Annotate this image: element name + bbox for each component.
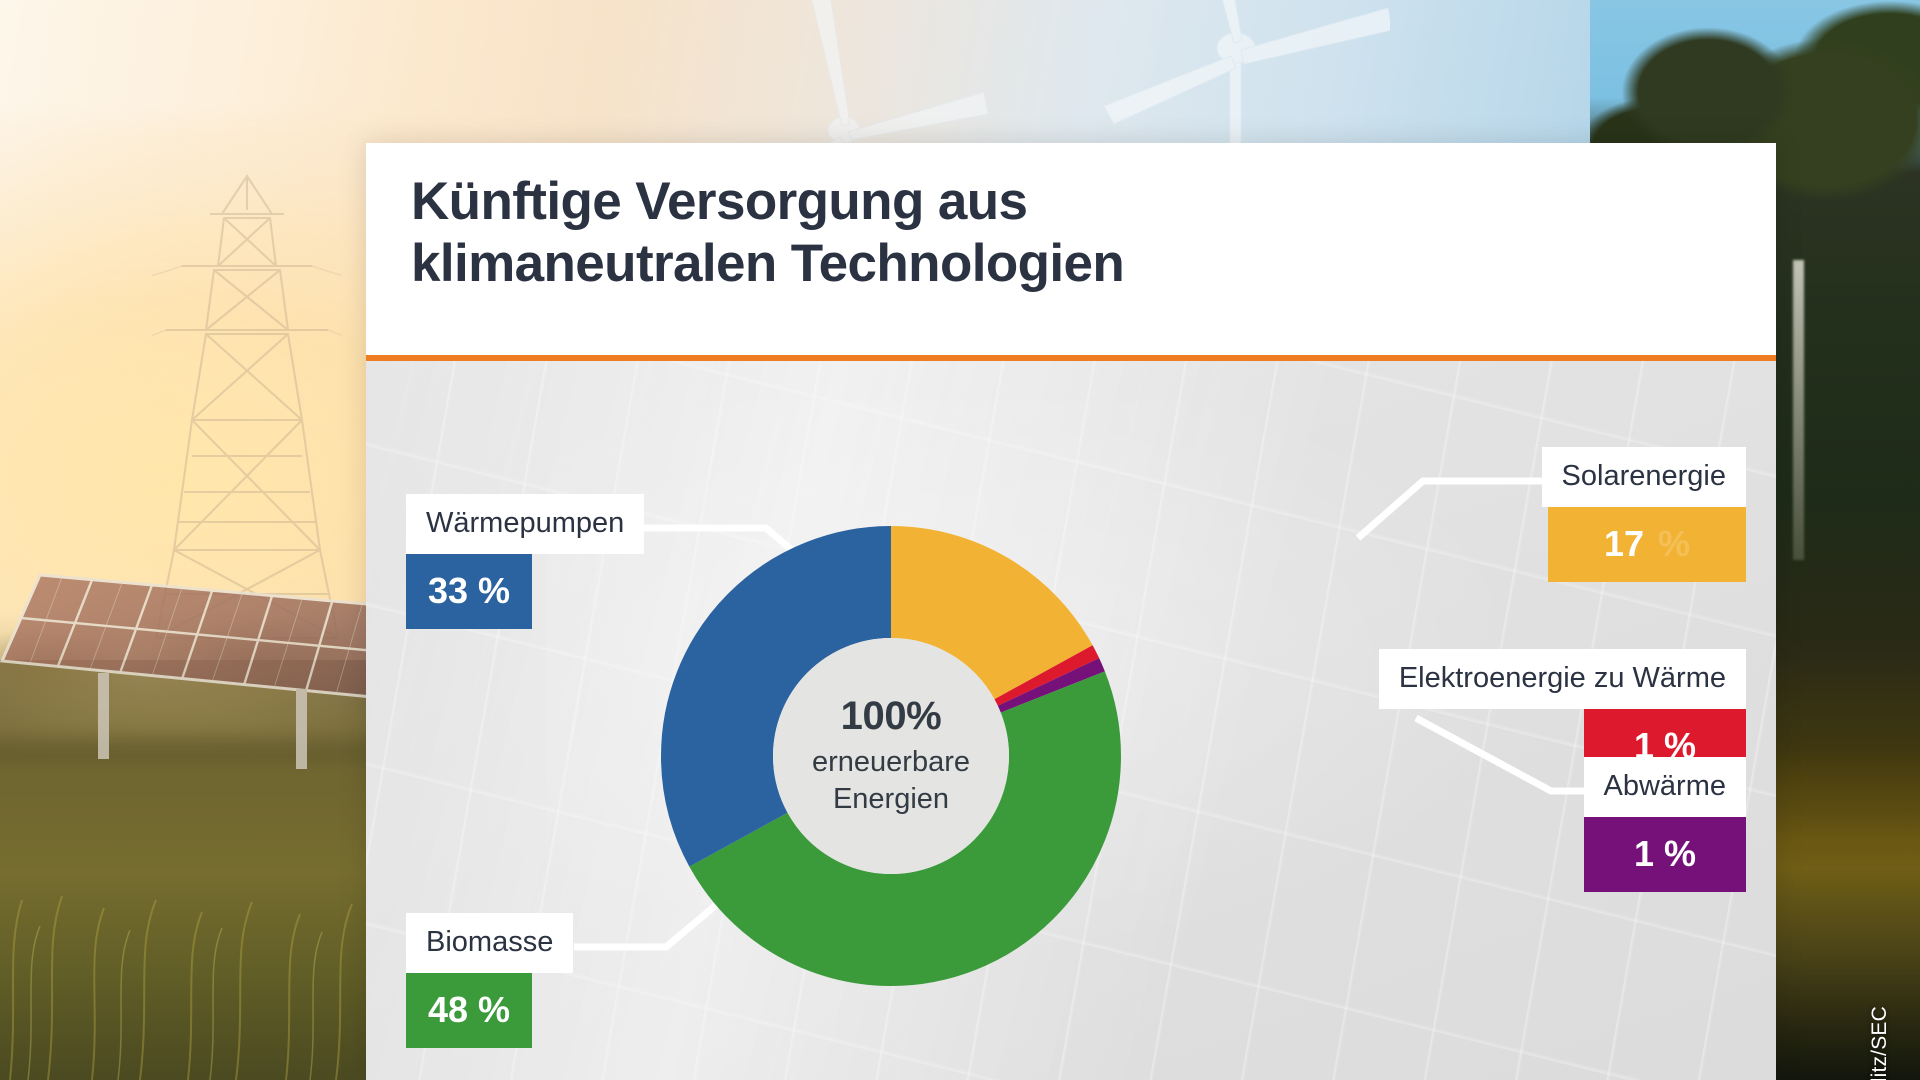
donut-svg — [661, 526, 1121, 986]
page-title: Künftige Versorgung aus klimaneutralen T… — [411, 171, 1591, 295]
callout-abwaerme: Abwärme 1 % — [1584, 757, 1747, 892]
callout-elektroenergie-label: Elektroenergie zu Wärme — [1379, 649, 1746, 709]
infographic-stage: Künftige Versorgung aus klimaneutralen T… — [0, 0, 1920, 1080]
callout-biomasse-label: Biomasse — [406, 913, 573, 973]
callout-solarenergie-value: 17% — [1548, 507, 1746, 582]
callout-solarenergie-percent-faded: % — [1658, 523, 1690, 564]
source-credit: Quelle: Stadtwerke Görlitz/SEC — [1868, 1006, 1892, 1080]
donut-chart: 100% erneuerbare Energien — [661, 526, 1121, 986]
callout-waermepumpen: Wärmepumpen 33 % — [406, 494, 644, 629]
callout-biomasse: Biomasse 48 % — [406, 913, 573, 1048]
donut-hole — [773, 638, 1009, 874]
birch-trunk — [1793, 260, 1804, 560]
callout-abwaerme-value: 1 % — [1584, 817, 1746, 892]
callout-waermepumpen-value: 33 % — [406, 554, 532, 629]
callout-biomasse-value: 48 % — [406, 973, 532, 1048]
callout-solarenergie: Solarenergie 17% — [1542, 447, 1746, 582]
callout-solarenergie-number: 17 — [1604, 523, 1644, 564]
infographic-card: Künftige Versorgung aus klimaneutralen T… — [366, 143, 1776, 1080]
callout-waermepumpen-label: Wärmepumpen — [406, 494, 644, 554]
callout-abwaerme-label: Abwärme — [1584, 757, 1747, 817]
chart-panel: 100% erneuerbare Energien Wärmepumpen 33… — [366, 361, 1776, 1080]
callout-solarenergie-label: Solarenergie — [1542, 447, 1746, 507]
card-header: Künftige Versorgung aus klimaneutralen T… — [366, 143, 1776, 358]
